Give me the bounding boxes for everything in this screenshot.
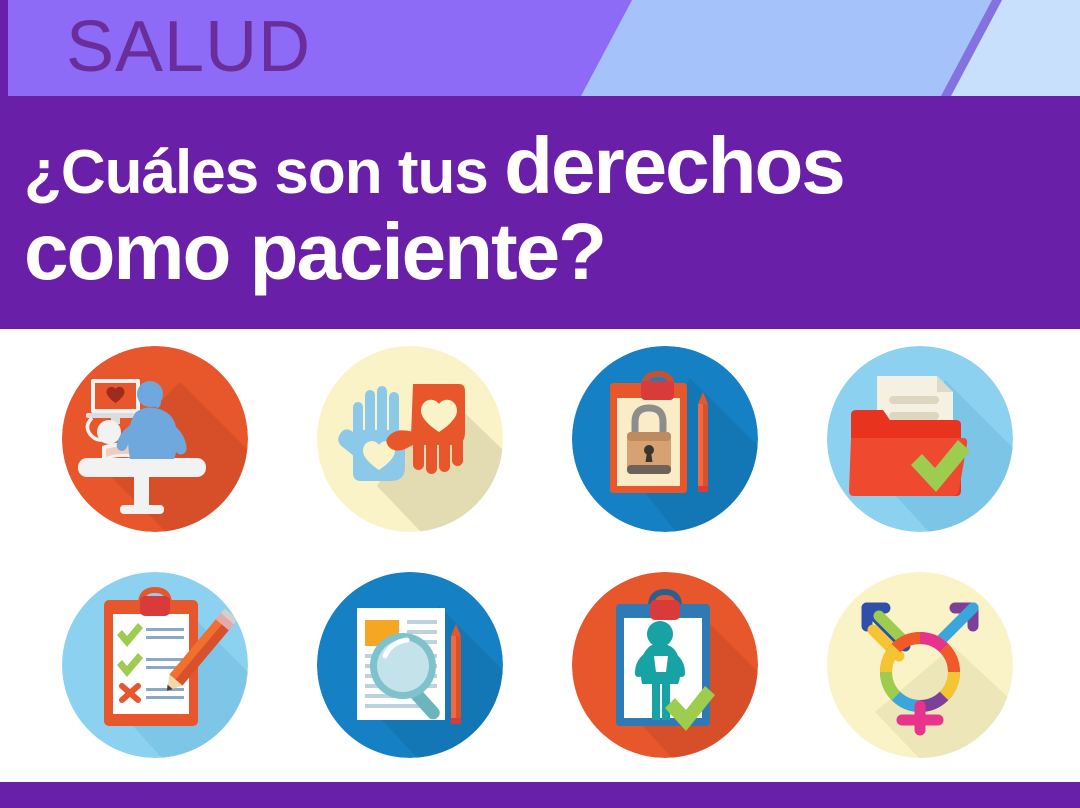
caring-hands-art xyxy=(317,346,503,532)
consent-checklist-art xyxy=(62,572,248,758)
icon-grid xyxy=(0,336,1080,782)
folder-with-document-and-check-icon xyxy=(827,346,1013,532)
icon-cell-patient-exam xyxy=(62,346,248,532)
headline-line-1: ¿Cuáles son tus derechos xyxy=(24,120,844,212)
category-banner: SALUD xyxy=(0,0,1080,96)
icon-cell-consent-checklist xyxy=(62,572,248,758)
records-folder-art xyxy=(827,346,1013,532)
icon-cell-records-folder xyxy=(827,346,1013,532)
clipboard-with-person-and-check-icon xyxy=(572,572,758,758)
icon-cell-document-review xyxy=(317,572,503,758)
gender-diversity-art xyxy=(827,572,1013,758)
headline-regular-text: ¿Cuáles son tus xyxy=(24,138,504,207)
infographic-poster: SALUD ¿Cuáles son tus derechos como paci… xyxy=(0,0,1080,808)
icon-cell-gender-diversity xyxy=(827,572,1013,758)
category-label: SALUD xyxy=(66,4,311,90)
clipboard-with-padlock-icon xyxy=(572,346,758,532)
patient-exam-art xyxy=(62,346,248,532)
document-review-art xyxy=(317,572,503,758)
two-hands-with-hearts-icon xyxy=(317,346,503,532)
headline-line-2: como paciente? xyxy=(24,202,605,302)
confidential-clipboard-art xyxy=(572,346,758,532)
checklist-clipboard-with-pencil-icon xyxy=(62,572,248,758)
document-with-magnifying-glass-icon xyxy=(317,572,503,758)
patient-on-exam-bed-with-doctor-icon xyxy=(62,346,248,532)
icon-cell-patient-identity xyxy=(572,572,758,758)
icon-cell-confidential xyxy=(572,346,758,532)
headline-emphasis-text: derechos xyxy=(504,121,844,210)
patient-identity-art xyxy=(572,572,758,758)
headline-banner: ¿Cuáles son tus derechos como paciente? xyxy=(0,96,1080,329)
transgender-rainbow-symbol-icon xyxy=(827,572,1013,758)
footer-bar xyxy=(0,782,1080,808)
icon-cell-caring-hands xyxy=(317,346,503,532)
